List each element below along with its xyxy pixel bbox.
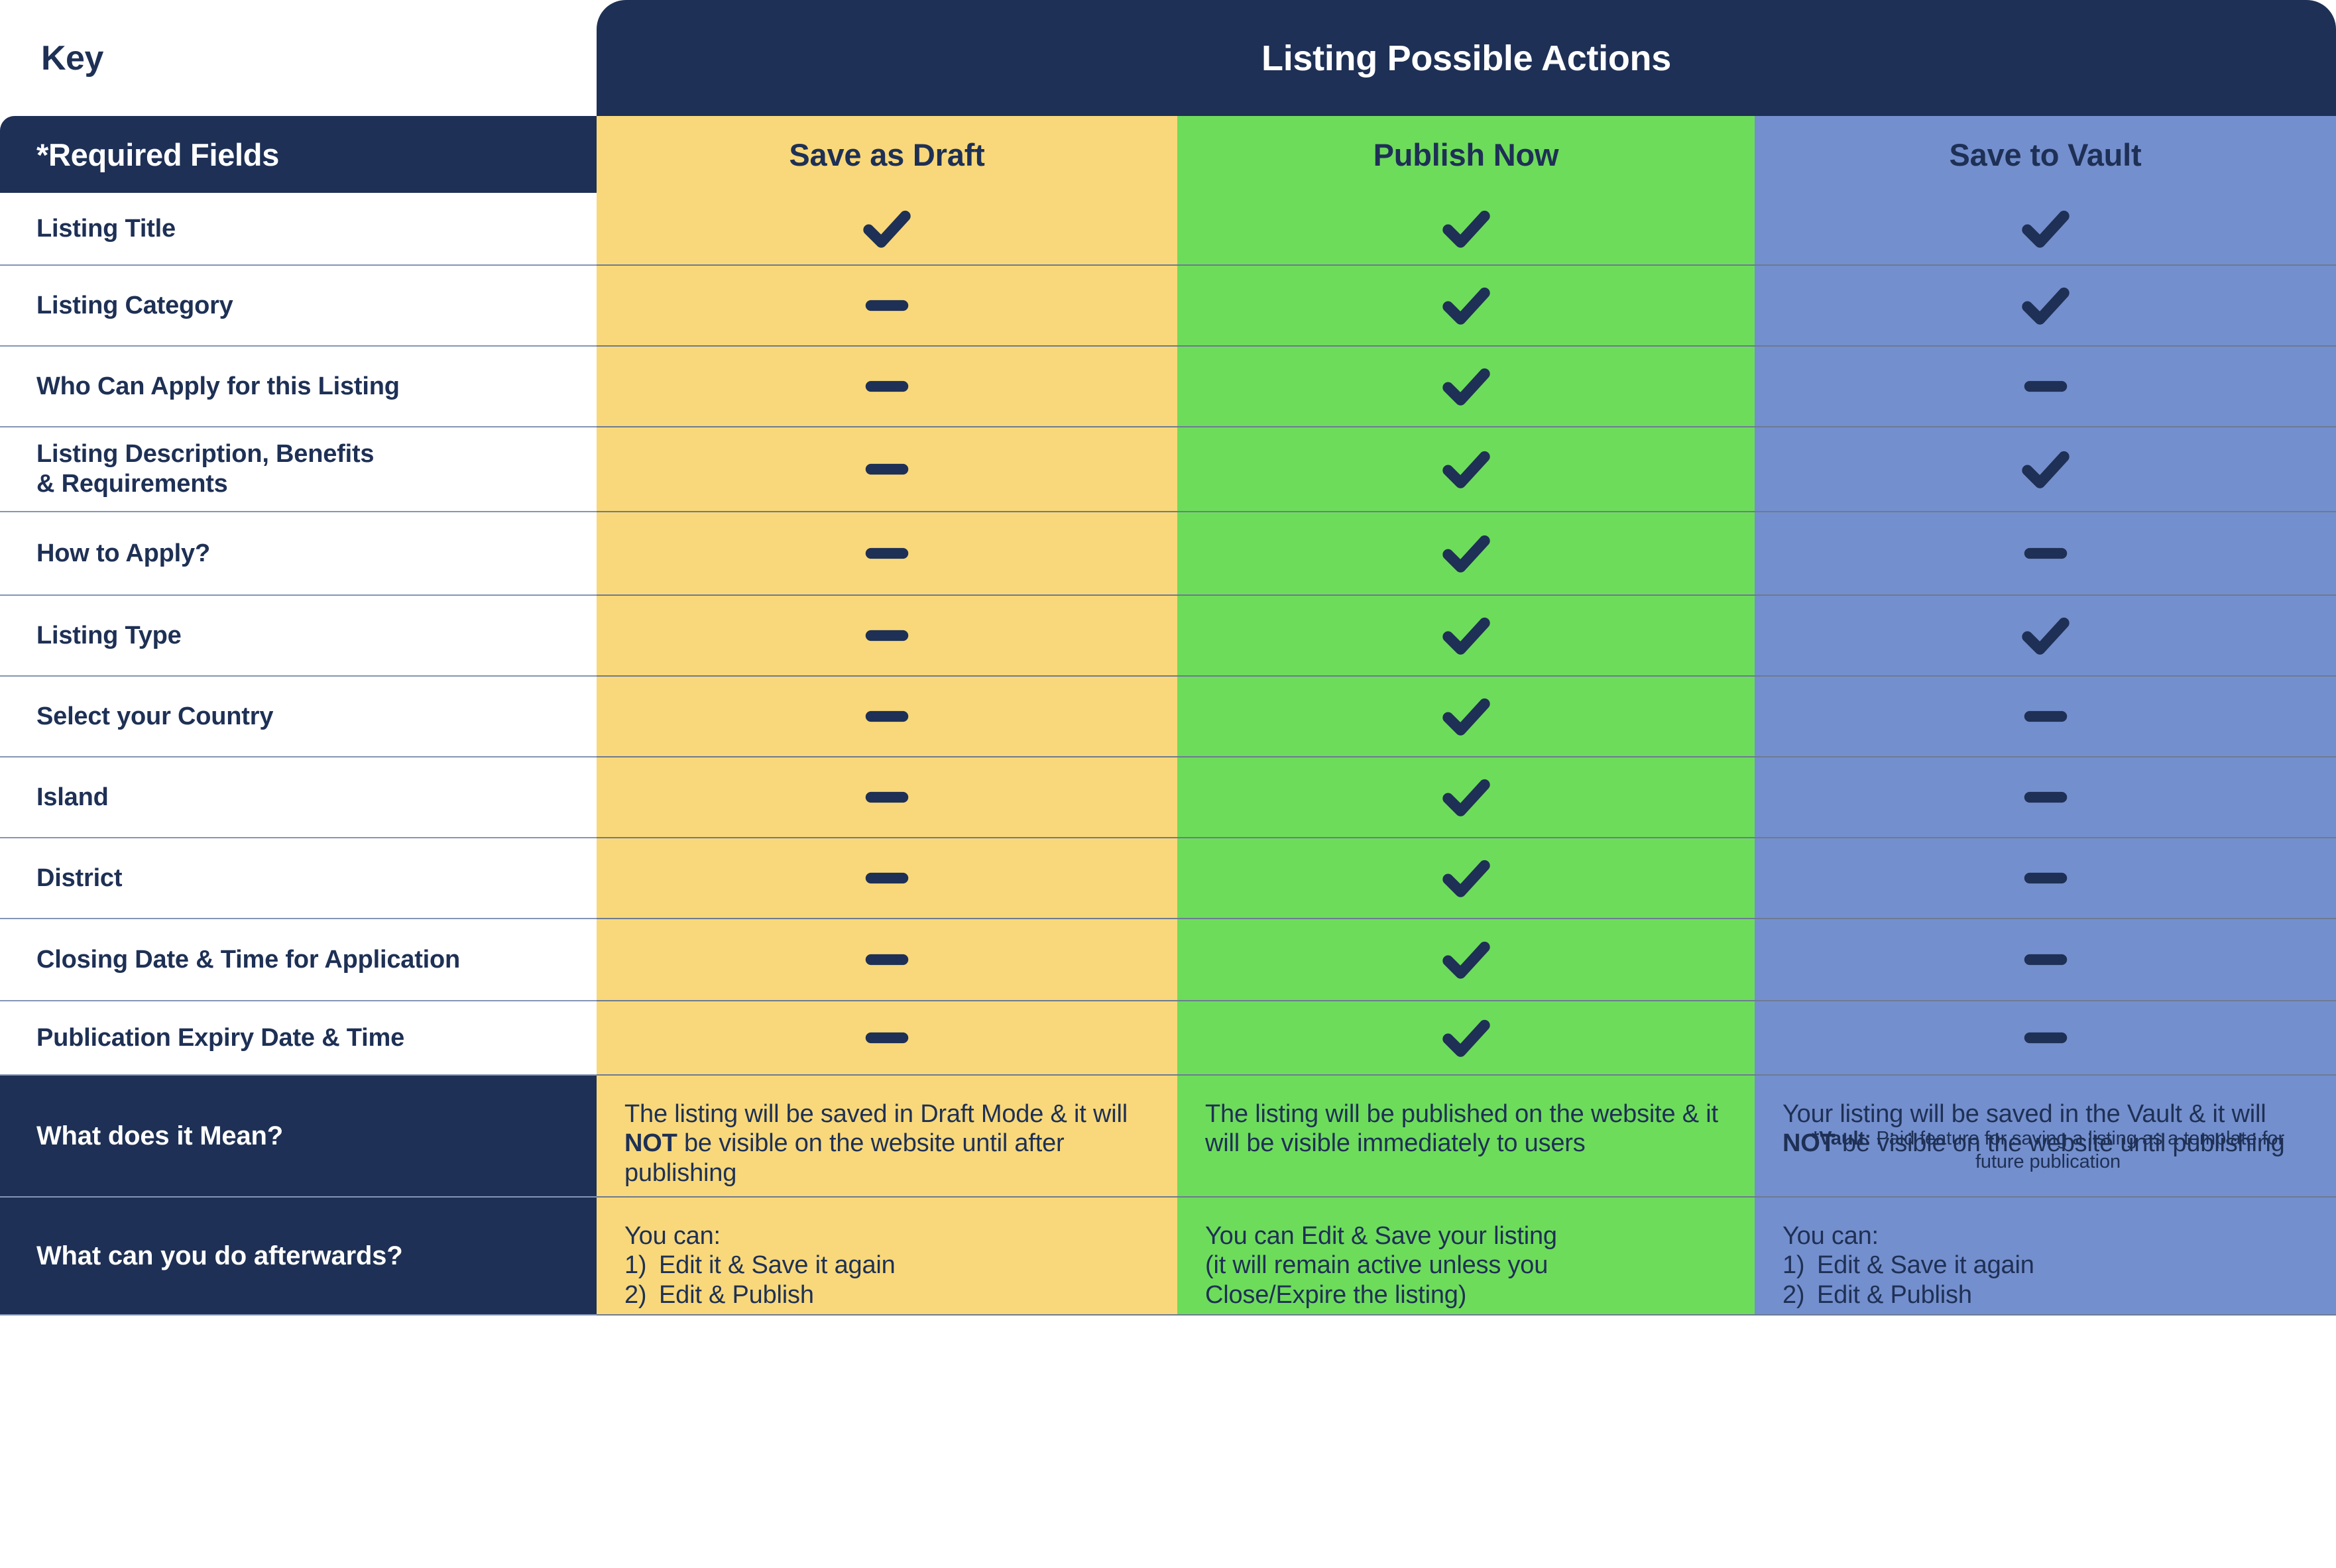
- afterwards-text-publish: You can Edit & Save your listing (it wil…: [1177, 1198, 1755, 1310]
- column-header-label: Publish Now: [1373, 137, 1559, 173]
- dash-icon: [858, 277, 915, 334]
- dash-icon: [858, 607, 915, 664]
- afterwards-publish-line-2: (it will remain active unless you: [1205, 1251, 1728, 1280]
- cell-draft: [597, 757, 1177, 838]
- actions-header-title: Listing Possible Actions: [1261, 38, 1671, 79]
- dash-icon: [858, 358, 915, 415]
- check-icon: [858, 200, 915, 257]
- cell-draft: [597, 919, 1177, 1001]
- list-number: 2): [624, 1280, 659, 1310]
- meaning-row-label-cell: What does it Mean?: [0, 1076, 597, 1198]
- list-text: Edit & Publish: [659, 1281, 814, 1309]
- dash-icon: [2017, 688, 2074, 745]
- check-icon: [1438, 769, 1495, 826]
- list-text: Edit & Save it again: [1817, 1251, 2034, 1279]
- cell-draft: [597, 596, 1177, 677]
- check-icon: [2017, 607, 2074, 664]
- cell-vault: [1755, 596, 2336, 677]
- cell-vault: [1755, 1001, 2336, 1076]
- table-row: Listing Category: [0, 266, 2336, 347]
- afterwards-draft-item-2: 2)Edit & Publish: [624, 1280, 1151, 1310]
- meaning-vault-pre: Your listing will be saved in the Vault …: [1782, 1100, 2266, 1128]
- cell-vault: [1755, 427, 2336, 512]
- check-icon: [1438, 688, 1495, 745]
- cell-publish: [1177, 757, 1755, 838]
- table-row: Island: [0, 757, 2336, 838]
- cell-vault: [1755, 266, 2336, 347]
- cell-publish: [1177, 347, 1755, 427]
- row-label-cell: Listing Title: [0, 193, 597, 266]
- row-label-cell: Listing Category: [0, 266, 597, 347]
- row-label: Closing Date & Time for Application: [0, 945, 460, 975]
- cell-vault: [1755, 347, 2336, 427]
- column-header-save-to-vault[interactable]: Save to Vault: [1755, 116, 2336, 193]
- afterwards-cell-publish: You can Edit & Save your listing (it wil…: [1177, 1198, 1755, 1316]
- column-header-save-as-draft[interactable]: Save as Draft: [597, 116, 1177, 193]
- afterwards-row-label: What can you do afterwards?: [0, 1241, 402, 1271]
- dash-icon: [2017, 850, 2074, 907]
- afterwards-vault-item-1: 1)Edit & Save it again: [1782, 1251, 2309, 1280]
- cell-publish: [1177, 193, 1755, 266]
- check-icon: [1438, 200, 1495, 257]
- cell-draft: [597, 266, 1177, 347]
- dash-icon: [2017, 358, 2074, 415]
- dash-icon: [858, 688, 915, 745]
- cell-publish: [1177, 596, 1755, 677]
- vault-footnote: *Vault: Paid feature for saving a listin…: [1755, 1127, 2336, 1174]
- column-header-label: Save as Draft: [789, 137, 984, 173]
- table-row: Listing Title: [0, 193, 2336, 266]
- row-label-cell: Closing Date & Time for Application: [0, 919, 597, 1001]
- row-label: Who Can Apply for this Listing: [0, 372, 400, 402]
- column-header-label: Save to Vault: [1950, 137, 2142, 173]
- afterwards-vault-intro: You can:: [1782, 1221, 2309, 1251]
- cell-draft: [597, 347, 1177, 427]
- list-number: 1): [1782, 1251, 1817, 1280]
- afterwards-vault-item-2: 2)Edit & Publish: [1782, 1280, 2309, 1310]
- row-label-cell: District: [0, 838, 597, 919]
- cell-vault: [1755, 919, 2336, 1001]
- row-label-cell: Who Can Apply for this Listing: [0, 347, 597, 427]
- meaning-cell-draft: The listing will be saved in Draft Mode …: [597, 1076, 1177, 1198]
- table-row: Listing Description, Benefits& Requireme…: [0, 427, 2336, 512]
- cell-draft: [597, 512, 1177, 596]
- table-row: Select your Country: [0, 677, 2336, 757]
- row-label: District: [0, 864, 122, 893]
- afterwards-cell-draft: You can: 1)Edit it & Save it again 2)Edi…: [597, 1198, 1177, 1316]
- meaning-row-label: What does it Mean?: [0, 1121, 283, 1151]
- row-label: Listing Type: [0, 621, 182, 651]
- cell-draft: [597, 193, 1177, 266]
- afterwards-text-vault: You can: 1)Edit & Save it again 2)Edit &…: [1755, 1198, 2336, 1310]
- list-number: 2): [1782, 1280, 1817, 1310]
- meaning-draft-pre: The listing will be saved in Draft Mode …: [624, 1100, 1128, 1128]
- row-label-cell: Listing Type: [0, 596, 597, 677]
- meaning-cell-vault: Your listing will be saved in the Vault …: [1755, 1076, 2336, 1198]
- row-label: How to Apply?: [0, 539, 210, 569]
- table-row: How to Apply?: [0, 512, 2336, 596]
- row-label: Listing Category: [0, 291, 233, 321]
- afterwards-publish-line-1: You can Edit & Save your listing: [1205, 1221, 1728, 1251]
- table-row: District: [0, 838, 2336, 919]
- row-label: Island: [0, 783, 109, 812]
- afterwards-cell-vault: You can: 1)Edit & Save it again 2)Edit &…: [1755, 1198, 2336, 1316]
- afterwards-row-label-cell: What can you do afterwards?: [0, 1198, 597, 1316]
- dash-icon: [858, 441, 915, 498]
- cell-vault: [1755, 193, 2336, 266]
- table-row: Who Can Apply for this Listing: [0, 347, 2336, 427]
- cell-publish: [1177, 427, 1755, 512]
- cell-publish: [1177, 266, 1755, 347]
- required-fields-label: *Required Fields: [0, 137, 279, 173]
- afterwards-publish-line-3: Close/Expire the listing): [1205, 1280, 1728, 1310]
- check-icon: [2017, 277, 2074, 334]
- dash-icon: [2017, 1009, 2074, 1066]
- row-label-cell: How to Apply?: [0, 512, 597, 596]
- afterwards-text-draft: You can: 1)Edit it & Save it again 2)Edi…: [597, 1198, 1177, 1310]
- dash-icon: [858, 1009, 915, 1066]
- table-row: Publication Expiry Date & Time: [0, 1001, 2336, 1076]
- cell-draft: [597, 427, 1177, 512]
- row-label: Select your Country: [0, 702, 273, 732]
- row-label-cell: Select your Country: [0, 677, 597, 757]
- table-row: Listing Type: [0, 596, 2336, 677]
- check-icon: [1438, 441, 1495, 498]
- row-label: Listing Title: [0, 214, 176, 244]
- row-label-cell: Listing Description, Benefits& Requireme…: [0, 427, 597, 512]
- row-label: Publication Expiry Date & Time: [0, 1023, 404, 1053]
- meaning-row: What does it Mean? The listing will be s…: [0, 1076, 2336, 1198]
- afterwards-row: What can you do afterwards? You can: 1)E…: [0, 1198, 2336, 1316]
- dash-icon: [858, 850, 915, 907]
- cell-publish: [1177, 919, 1755, 1001]
- list-text: Edit & Publish: [1817, 1281, 1972, 1309]
- cell-vault: [1755, 838, 2336, 919]
- cell-vault: [1755, 677, 2336, 757]
- row-label-cell: Island: [0, 757, 597, 838]
- column-header-publish-now[interactable]: Publish Now: [1177, 116, 1755, 193]
- cell-publish: [1177, 1001, 1755, 1076]
- vault-footnote-term: *Vault:: [1812, 1128, 1871, 1149]
- dash-icon: [2017, 931, 2074, 988]
- check-icon: [1438, 931, 1495, 988]
- table-row: Closing Date & Time for Application: [0, 919, 2336, 1001]
- dash-icon: [858, 525, 915, 582]
- dash-icon: [2017, 525, 2074, 582]
- listing-actions-table: Key Listing Possible Actions *Required F…: [0, 0, 2336, 1568]
- comparison-table: *Required Fields Save as Draft Publish N…: [0, 116, 2336, 1316]
- table-header-row: *Required Fields Save as Draft Publish N…: [0, 116, 2336, 193]
- cell-draft: [597, 838, 1177, 919]
- afterwards-draft-item-1: 1)Edit it & Save it again: [624, 1251, 1151, 1280]
- check-icon: [2017, 200, 2074, 257]
- cell-publish: [1177, 677, 1755, 757]
- dash-icon: [858, 931, 915, 988]
- check-icon: [1438, 850, 1495, 907]
- check-icon: [1438, 358, 1495, 415]
- meaning-text-draft: The listing will be saved in Draft Mode …: [597, 1076, 1177, 1188]
- meaning-draft-emphasis: NOT: [624, 1129, 677, 1157]
- vault-footnote-text: Paid feature for saving a listing as a t…: [1871, 1128, 2284, 1172]
- cell-draft: [597, 677, 1177, 757]
- meaning-text-publish: The listing will be published on the web…: [1177, 1076, 1755, 1158]
- check-icon: [2017, 441, 2074, 498]
- list-number: 1): [624, 1251, 659, 1280]
- check-icon: [1438, 607, 1495, 664]
- key-label: Key: [41, 38, 505, 85]
- dash-icon: [858, 769, 915, 826]
- actions-header-banner: Listing Possible Actions: [597, 0, 2336, 116]
- required-fields-header-cell: *Required Fields: [0, 116, 597, 193]
- check-icon: [1438, 525, 1495, 582]
- afterwards-draft-intro: You can:: [624, 1221, 1151, 1251]
- dash-icon: [2017, 769, 2074, 826]
- row-label-cell: Publication Expiry Date & Time: [0, 1001, 597, 1076]
- cell-draft: [597, 1001, 1177, 1076]
- list-text: Edit it & Save it again: [659, 1251, 896, 1279]
- cell-vault: [1755, 757, 2336, 838]
- check-icon: [1438, 277, 1495, 334]
- cell-vault: [1755, 512, 2336, 596]
- cell-publish: [1177, 512, 1755, 596]
- meaning-cell-publish: The listing will be published on the web…: [1177, 1076, 1755, 1198]
- meaning-draft-post: be visible on the website until after pu…: [624, 1129, 1064, 1186]
- row-label: Listing Description, Benefits& Requireme…: [0, 439, 374, 499]
- cell-publish: [1177, 838, 1755, 919]
- check-icon: [1438, 1009, 1495, 1066]
